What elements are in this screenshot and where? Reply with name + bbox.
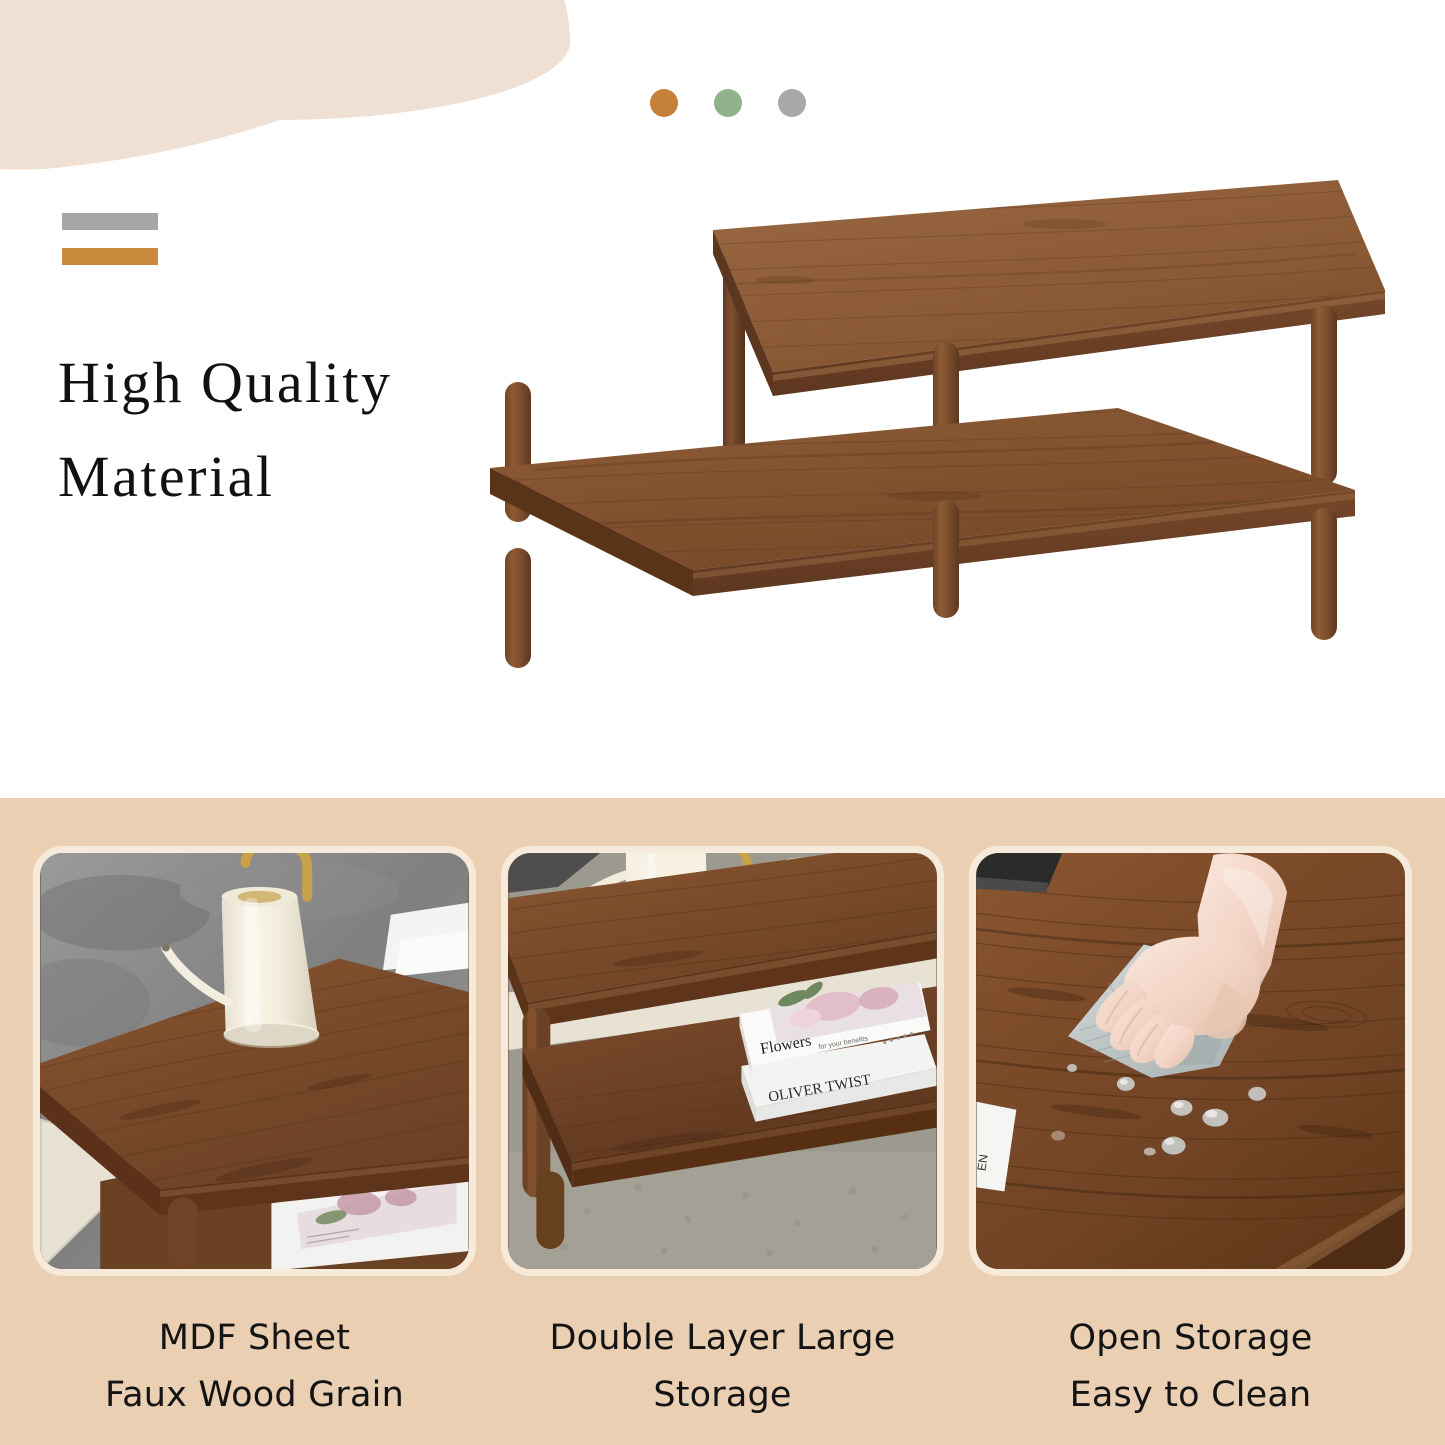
- coffee-table-illustration: [455, 150, 1395, 770]
- decorative-blob-shape-secondary: [150, 0, 570, 120]
- table-leg-front-right-lower: [1311, 508, 1337, 640]
- feature-card-open-storage-easy-clean[interactable]: EN: [969, 846, 1412, 1424]
- hero-section: High Quality Material: [0, 0, 1445, 800]
- thumb-hand-wiping-surface[interactable]: EN: [969, 846, 1412, 1276]
- feature-card-double-layer-storage[interactable]: OLIVER TWIST: [501, 846, 944, 1424]
- table-leg-front-bottom: [536, 1171, 564, 1249]
- table-leg-front-right-upper: [1311, 305, 1337, 485]
- paper-label: EN: [976, 1153, 991, 1171]
- feature-card-mdf-sheet[interactable]: MDF Sheet Faux Wood Grain: [33, 846, 476, 1424]
- product-hero-image: [455, 150, 1395, 770]
- scene-lower-shelf-books: OLIVER TWIST: [508, 853, 937, 1269]
- feature-caption-double-layer-storage: Double Layer Large Storage: [501, 1310, 944, 1424]
- dot-indicator-group: [650, 89, 806, 117]
- feature-caption-open-storage-easy-clean: Open Storage Easy to Clean: [969, 1310, 1412, 1424]
- dot-green-icon: [714, 89, 742, 117]
- scene-tabletop-watering-can: [40, 853, 469, 1269]
- table-leg-front: [168, 1197, 198, 1269]
- table-top: [713, 180, 1385, 396]
- thumb-tabletop-with-watering-can[interactable]: [33, 846, 476, 1276]
- page-title: High Quality Material: [58, 336, 498, 524]
- dot-orange-icon: [650, 89, 678, 117]
- table-lower-shelf: [490, 408, 1355, 596]
- table-leg-front-mid-lower: [933, 500, 959, 618]
- product-feature-page: High Quality Material: [0, 0, 1445, 1445]
- accent-bar-group: [62, 213, 158, 265]
- thumb-lower-shelf-with-books[interactable]: OLIVER TWIST: [501, 846, 944, 1276]
- scene-hand-wiping-table: EN: [976, 853, 1405, 1269]
- accent-bar-orange: [62, 248, 158, 265]
- feature-card-list: MDF Sheet Faux Wood Grain: [0, 798, 1445, 1424]
- feature-caption-mdf-sheet: MDF Sheet Faux Wood Grain: [33, 1310, 476, 1424]
- features-section: MDF Sheet Faux Wood Grain: [0, 798, 1445, 1445]
- dot-gray-icon: [778, 89, 806, 117]
- table-leg-front-left-lower: [505, 548, 531, 668]
- accent-bar-gray: [62, 213, 158, 230]
